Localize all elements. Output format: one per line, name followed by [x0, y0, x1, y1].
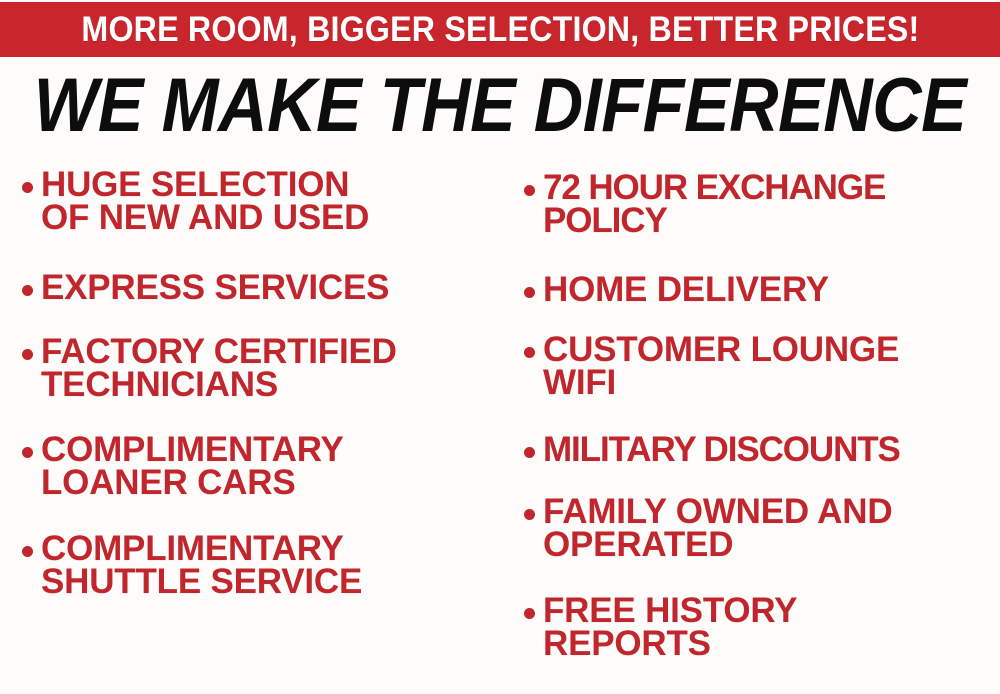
bullet-dot-icon [22, 447, 33, 458]
list-item: HOME DELIVERY [524, 273, 829, 306]
list-item: MILITARY DISCOUNTS [524, 433, 900, 466]
list-item-label: EXPRESS SERVICES [41, 271, 389, 304]
list-item: FREE HISTORY REPORTS [524, 594, 797, 660]
bullet-dot-icon [22, 285, 33, 296]
list-item-label: COMPLIMENTARY SHUTTLE SERVICE [41, 532, 362, 598]
bullet-dot-icon [524, 347, 535, 358]
list-item-label: CUSTOMER LOUNGE WIFI [543, 333, 899, 399]
list-item-label: FACTORY CERTIFIED TECHNICIANS [41, 335, 397, 401]
top-banner: MORE ROOM, BIGGER SELECTION, BETTER PRIC… [0, 2, 1000, 57]
benefits-column-right: 72 HOUR EXCHANGE POLICY HOME DELIVERY CU… [498, 160, 1000, 694]
bullet-dot-icon [22, 182, 33, 193]
list-item: COMPLIMENTARY LOANER CARS [22, 433, 344, 499]
bullet-dot-icon [524, 608, 535, 619]
promo-poster: MORE ROOM, BIGGER SELECTION, BETTER PRIC… [0, 0, 1000, 694]
list-item-label: COMPLIMENTARY LOANER CARS [41, 433, 344, 499]
page-title: WE MAKE THE DIFFERENCE [34, 68, 967, 144]
list-item: HUGE SELECTION OF NEW AND USED [22, 168, 369, 234]
bullet-dot-icon [22, 349, 33, 360]
list-item-label: HUGE SELECTION OF NEW AND USED [41, 168, 369, 234]
list-item-label: FREE HISTORY REPORTS [543, 594, 797, 660]
banner-headline: MORE ROOM, BIGGER SELECTION, BETTER PRIC… [81, 12, 919, 47]
bullet-dot-icon [524, 287, 535, 298]
list-item-label: 72 HOUR EXCHANGE POLICY [543, 171, 885, 237]
benefits-columns: HUGE SELECTION OF NEW AND USED EXPRESS S… [0, 160, 1000, 694]
list-item: FACTORY CERTIFIED TECHNICIANS [22, 335, 397, 401]
list-item: CUSTOMER LOUNGE WIFI [524, 333, 899, 399]
list-item-label: MILITARY DISCOUNTS [543, 433, 900, 466]
list-item: 72 HOUR EXCHANGE POLICY [524, 171, 885, 237]
bullet-dot-icon [524, 185, 535, 196]
list-item: EXPRESS SERVICES [22, 271, 389, 304]
bullet-dot-icon [524, 509, 535, 520]
list-item-label: FAMILY OWNED AND OPERATED [543, 495, 892, 561]
headline-container: WE MAKE THE DIFFERENCE [0, 70, 1000, 142]
bullet-dot-icon [524, 447, 535, 458]
list-item: FAMILY OWNED AND OPERATED [524, 495, 892, 561]
list-item-label: HOME DELIVERY [543, 273, 829, 306]
bullet-dot-icon [22, 546, 33, 557]
benefits-column-left: HUGE SELECTION OF NEW AND USED EXPRESS S… [0, 160, 498, 694]
list-item: COMPLIMENTARY SHUTTLE SERVICE [22, 532, 362, 598]
